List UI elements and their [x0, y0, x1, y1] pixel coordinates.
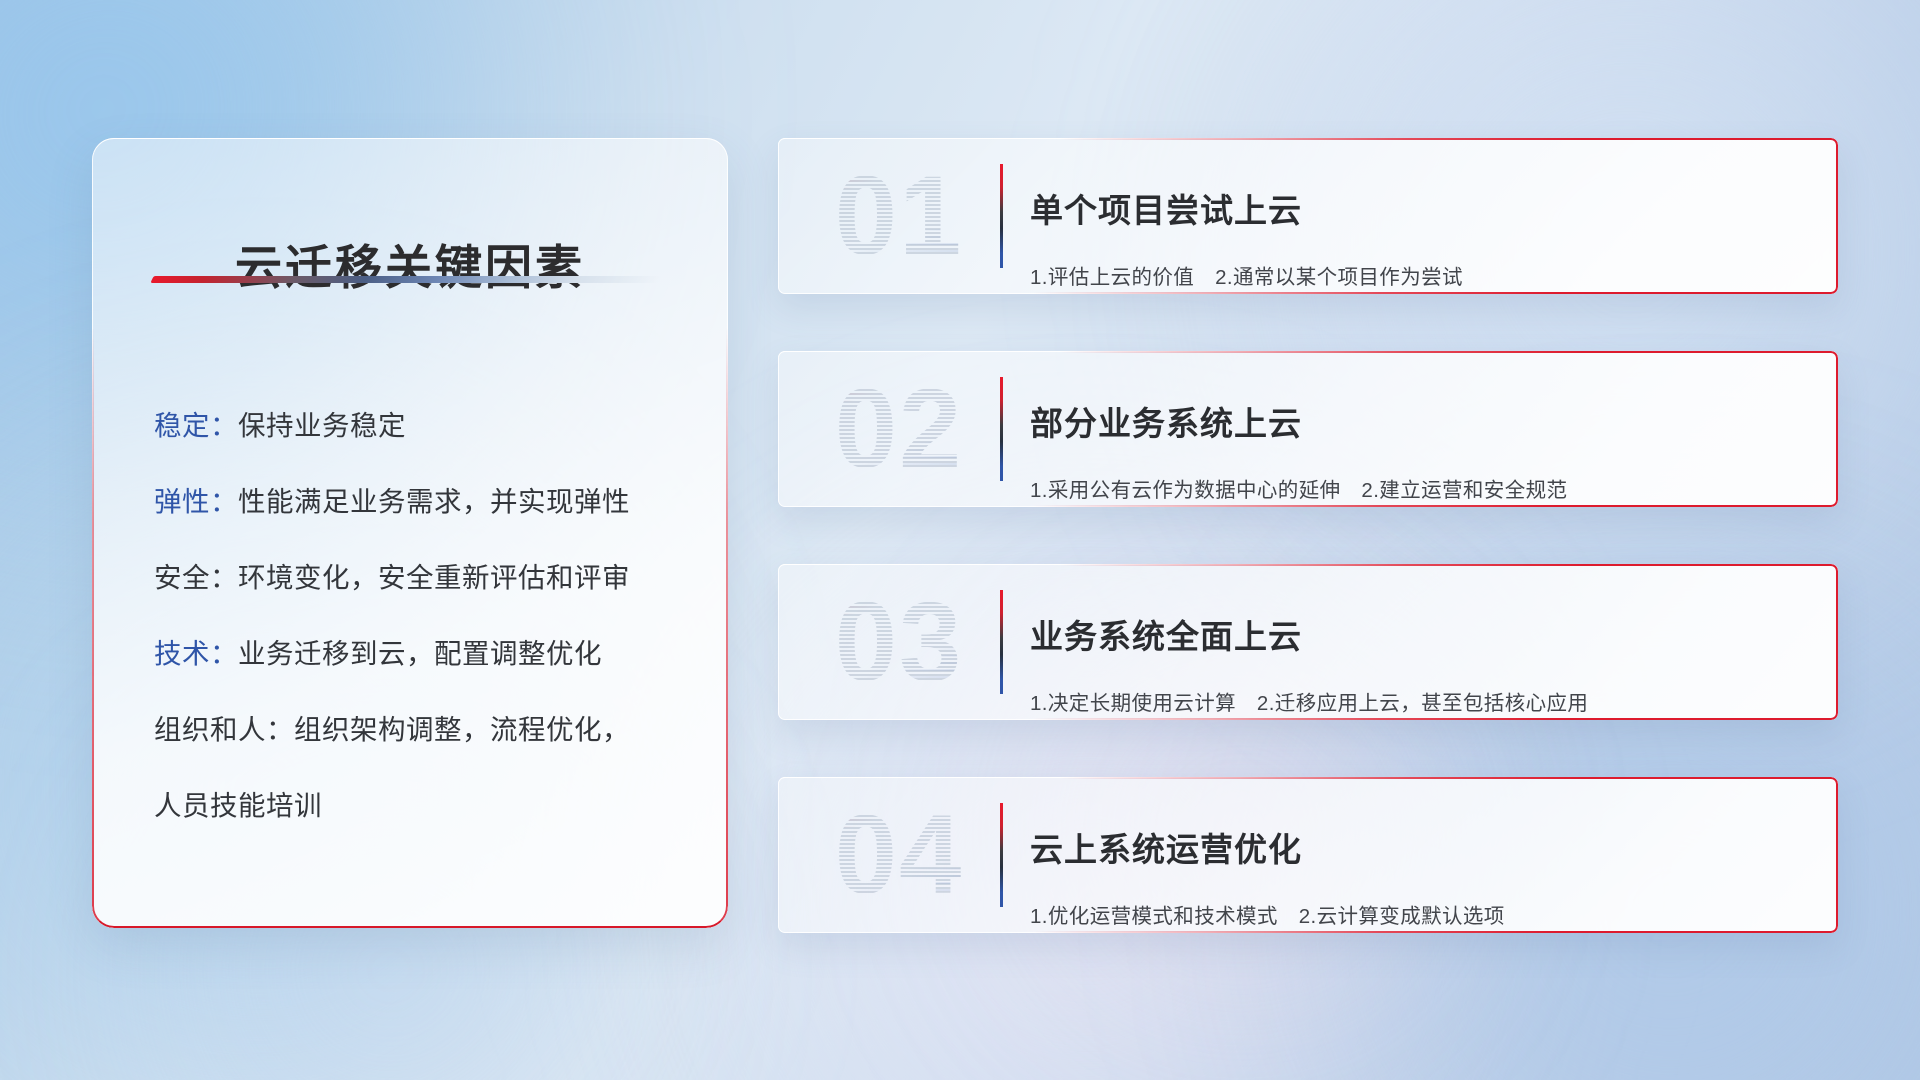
- factor-text: 环境变化，安全重新评估和评审: [238, 562, 630, 593]
- factor-label: 技术：: [154, 638, 238, 669]
- factor-text: 性能满足业务需求，并实现弹性: [238, 486, 630, 517]
- key-factors-panel: 云迁移关键因素 稳定：保持业务稳定 弹性：性能满足业务需求，并实现弹性 安全：环…: [92, 138, 728, 928]
- factor-text: 人员技能培训: [154, 790, 322, 821]
- factor-label: 弹性：: [154, 486, 238, 517]
- key-factors-list: 稳定：保持业务稳定 弹性：性能满足业务需求，并实现弹性 安全：环境变化，安全重新…: [154, 388, 696, 844]
- slide-canvas: 云迁移关键因素 稳定：保持业务稳定 弹性：性能满足业务需求，并实现弹性 安全：环…: [0, 0, 1920, 1080]
- card-title: 云上系统运营优化: [1030, 826, 1812, 874]
- card-body: 单个项目尝试上云 1.评估上云的价值 2.通常以某个项目作为尝试: [1030, 160, 1812, 294]
- card-description: 1.评估上云的价值 2.通常以某个项目作为尝试: [1030, 263, 1812, 293]
- factor-label: 安全：: [154, 562, 238, 593]
- page-title: 云迁移关键因素: [92, 229, 728, 298]
- list-item: 技术：业务迁移到云，配置调整优化: [154, 616, 696, 692]
- stage-number-watermark: 03: [804, 578, 994, 706]
- card-accent-divider: [1000, 164, 1003, 268]
- factor-text: 保持业务稳定: [238, 410, 406, 441]
- card-accent-divider: [1000, 377, 1003, 481]
- stage-card-01[interactable]: 01 01 单个项目尝试上云 1.评估上云的价值 2.通常以某个项目作为尝试: [778, 138, 1838, 294]
- list-item: 稳定：保持业务稳定: [154, 388, 696, 464]
- list-item: 组织和人：组织架构调整，流程优化，: [154, 692, 696, 768]
- card-title: 单个项目尝试上云: [1030, 187, 1812, 235]
- stage-number-watermark: 04: [804, 791, 994, 919]
- card-title: 部分业务系统上云: [1030, 400, 1812, 448]
- card-accent-divider: [1000, 590, 1003, 694]
- stage-card-04[interactable]: 04 04 云上系统运营优化 1.优化运营模式和技术模式 2.云计算变成默认选项: [778, 777, 1838, 933]
- list-item: 人员技能培训: [154, 768, 696, 844]
- card-accent-divider: [1000, 803, 1003, 907]
- card-body: 部分业务系统上云 1.采用公有云作为数据中心的延伸 2.建立运营和安全规范: [1030, 373, 1812, 507]
- list-item: 弹性：性能满足业务需求，并实现弹性: [154, 464, 696, 540]
- card-description: 1.优化运营模式和技术模式 2.云计算变成默认选项: [1030, 902, 1812, 932]
- stage-number-watermark: 01: [804, 152, 994, 280]
- factor-text: 组织架构调整，流程优化，: [294, 714, 630, 745]
- card-description: 1.采用公有云作为数据中心的延伸 2.建立运营和安全规范: [1030, 476, 1812, 506]
- list-item: 安全：环境变化，安全重新评估和评审: [154, 540, 696, 616]
- stage-card-03[interactable]: 03 03 业务系统全面上云 1.决定长期使用云计算 2.迁移应用上云，甚至包括…: [778, 564, 1838, 720]
- migration-stage-cards: 01 01 单个项目尝试上云 1.评估上云的价值 2.通常以某个项目作为尝试 0…: [778, 138, 1838, 933]
- factor-label: 组织和人：: [154, 714, 294, 745]
- stage-number-watermark: 02: [804, 365, 994, 493]
- factor-text: 业务迁移到云，配置调整优化: [238, 638, 602, 669]
- stage-card-02[interactable]: 02 02 部分业务系统上云 1.采用公有云作为数据中心的延伸 2.建立运营和安…: [778, 351, 1838, 507]
- card-body: 业务系统全面上云 1.决定长期使用云计算 2.迁移应用上云，甚至包括核心应用: [1030, 586, 1812, 720]
- card-description: 1.决定长期使用云计算 2.迁移应用上云，甚至包括核心应用: [1030, 689, 1812, 719]
- card-title: 业务系统全面上云: [1030, 613, 1812, 661]
- title-gradient-underline: [150, 276, 661, 283]
- factor-label: 稳定：: [154, 410, 238, 441]
- card-body: 云上系统运营优化 1.优化运营模式和技术模式 2.云计算变成默认选项: [1030, 799, 1812, 933]
